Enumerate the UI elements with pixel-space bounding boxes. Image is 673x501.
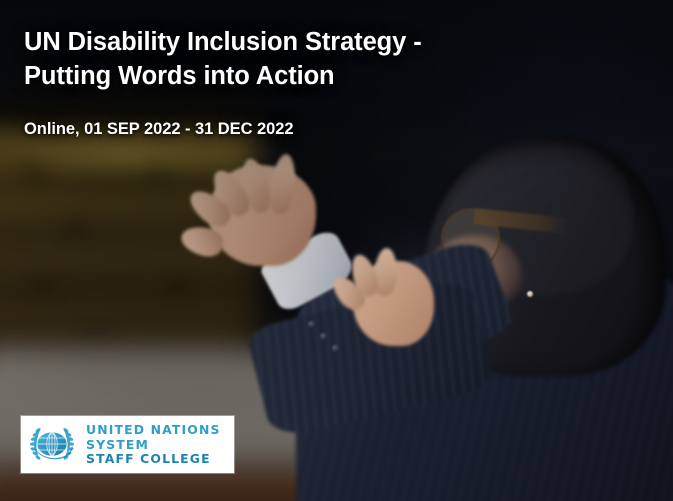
unssc-logo: UNITED NATIONS SYSTEM STAFF COLLEGE — [21, 416, 234, 473]
event-dates: Online, 01 SEP 2022 - 31 DEC 2022 — [24, 120, 494, 139]
event-banner: UN Disability Inclusion Strategy - Putti… — [0, 0, 673, 501]
banner-text-block: UN Disability Inclusion Strategy - Putti… — [24, 26, 494, 139]
sleeve-button — [308, 321, 315, 328]
earring — [527, 291, 533, 297]
logo-line-system: SYSTEM — [86, 438, 221, 452]
logo-line-staff-college: STAFF COLLEGE — [86, 452, 221, 466]
sleeve-button — [320, 333, 327, 340]
unssc-wordmark: UNITED NATIONS SYSTEM STAFF COLLEGE — [86, 423, 221, 467]
page-title: UN Disability Inclusion Strategy - Putti… — [24, 26, 494, 94]
un-globe-laurel-emblem — [26, 421, 78, 468]
logo-line-united-nations: UNITED NATIONS — [86, 423, 221, 437]
